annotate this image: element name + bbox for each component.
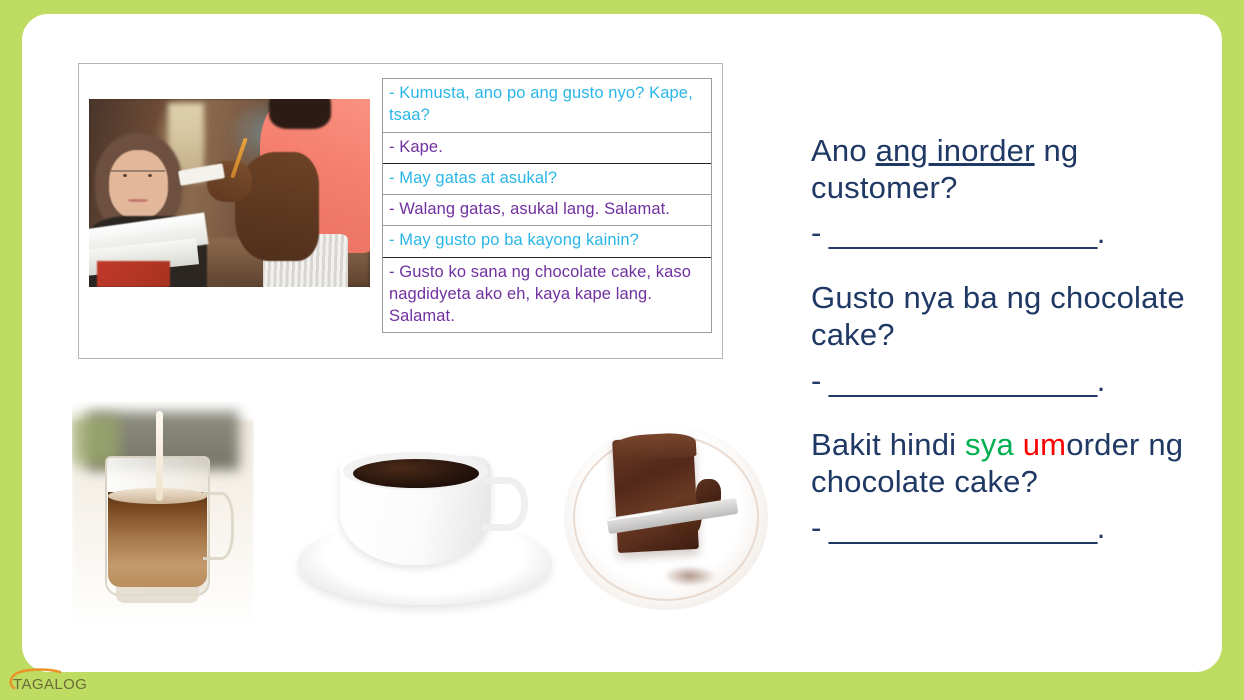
question-text-1: Ano ang inorder ng customer?	[811, 132, 1211, 206]
cake-crumbs-scatter	[662, 565, 717, 588]
customer-face	[109, 150, 168, 220]
dialogue-row: - Kape.	[383, 133, 711, 164]
question-part: Bakit hindi	[811, 427, 965, 462]
customer-eyeglasses	[111, 170, 164, 181]
answer-line-2[interactable]: - ________________.	[811, 362, 1211, 401]
question-block-2: Gusto nya ba ng chocolate cake? - ______…	[811, 279, 1211, 400]
question-part-underlined: ang inorder	[876, 133, 1035, 168]
question-block-1: Ano ang inorder ng customer? - _________…	[811, 132, 1211, 253]
coffee-liquid	[108, 492, 206, 587]
dialogue-table: - Kumusta, ano po ang gusto nyo? Kape, t…	[382, 78, 712, 333]
question-highlight-red: um	[1023, 427, 1066, 462]
logo-wordmark: TAGALOG	[13, 676, 87, 693]
question-part: Gusto nya ba ng chocolate cake?	[811, 280, 1185, 352]
server-hair	[269, 99, 331, 129]
answer-line-1[interactable]: - ________________.	[811, 214, 1211, 253]
dialogue-panel: - Kumusta, ano po ang gusto nyo? Kape, t…	[78, 63, 723, 359]
mug-base	[116, 587, 200, 603]
question-highlight-green: sya	[965, 427, 1014, 462]
dialogue-row: - Kumusta, ano po ang gusto nyo? Kape, t…	[383, 79, 711, 133]
milk-pour-stream	[156, 411, 163, 501]
customer-mouth	[128, 199, 148, 202]
chocolate-cake-slice-photo	[560, 402, 772, 628]
black-coffee-cup-photo	[274, 402, 576, 628]
tagalog-logo: TAGALOG	[4, 668, 90, 696]
dialogue-row: - May gatas at asukal?	[383, 164, 711, 195]
question-part	[1014, 427, 1023, 462]
black-coffee-surface	[353, 459, 480, 488]
tagalog-logo-icon: TAGALOG	[4, 668, 90, 696]
dialogue-row: - Gusto ko sana ng chocolate cake, kaso …	[383, 258, 711, 334]
question-text-3: Bakit hindi sya umorder ng chocolate cak…	[811, 426, 1211, 500]
cup-handle	[482, 477, 527, 531]
customer-eye-left	[123, 174, 127, 177]
dialogue-row: - May gusto po ba kayong kainin?	[383, 226, 711, 257]
red-package	[97, 261, 170, 287]
food-photo-strip	[62, 402, 782, 630]
comprehension-questions: Ano ang inorder ng customer? - _________…	[811, 132, 1211, 573]
slide-card: - Kumusta, ano po ang gusto nyo? Kape, t…	[22, 14, 1222, 672]
mug-handle	[203, 492, 234, 560]
cafe-ordering-photo	[89, 99, 370, 287]
question-text-2: Gusto nya ba ng chocolate cake?	[811, 279, 1211, 353]
answer-line-3[interactable]: - ________________.	[811, 509, 1211, 548]
question-part: Ano	[811, 133, 876, 168]
question-block-3: Bakit hindi sya umorder ng chocolate cak…	[811, 426, 1211, 547]
coffee-with-milk-glass-photo	[72, 402, 254, 628]
dialogue-row: - Walang gatas, asukal lang. Salamat.	[383, 195, 711, 226]
